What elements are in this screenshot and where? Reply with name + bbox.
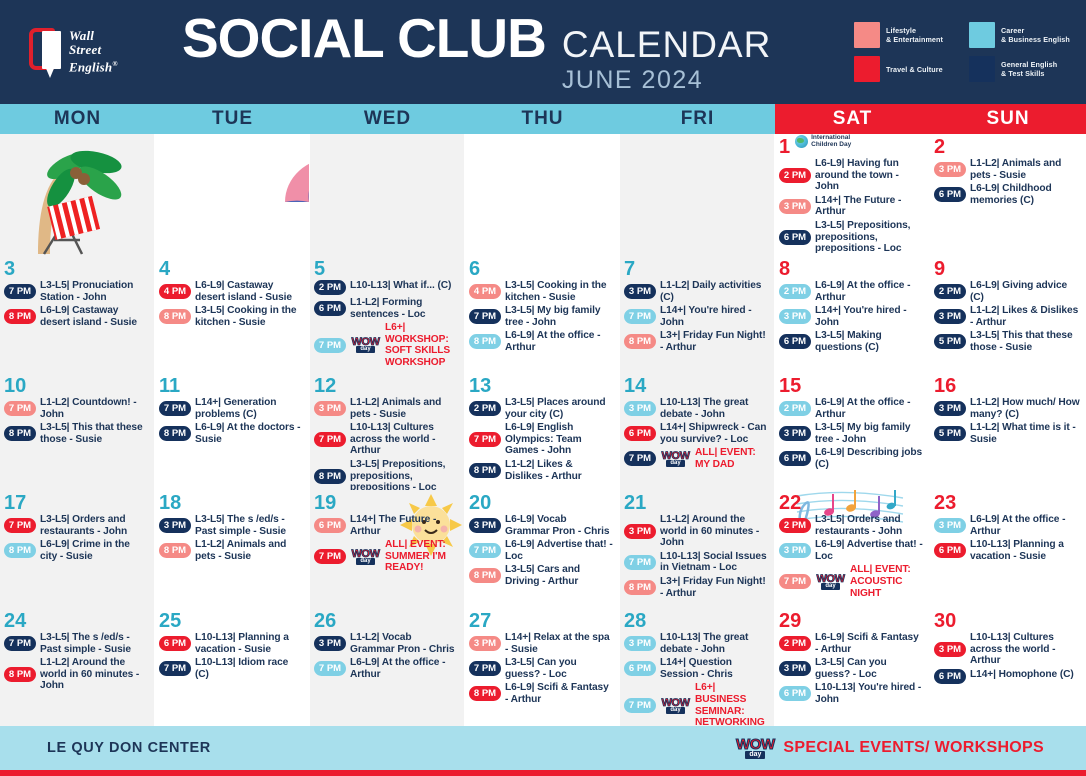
event-time-badge: 8 PM: [159, 543, 191, 558]
day-cell-19[interactable]: 196 PML14+| The Future - Arthur7 PMWOWda…: [310, 490, 465, 608]
dow-header-thu: THU: [465, 104, 620, 134]
event-item[interactable]: 5 PML3-L5| This that these those - Susie: [934, 330, 1080, 353]
event-time-badge: 6 PM: [779, 230, 811, 245]
event-time-badge: 7 PM: [314, 338, 346, 353]
day-cell-20[interactable]: 203 PML6-L9| Vocab Grammar Pron - Chris7…: [465, 490, 620, 608]
day-cell-4[interactable]: 44 PML6-L9| Castaway desert island - Sus…: [155, 256, 310, 373]
event-title: L3-L5| Can you guess? - Loc: [505, 657, 613, 680]
title-social-club: SOCIAL CLUB: [182, 11, 546, 66]
event-item[interactable]: 3 PML14+| The Future - Arthur: [779, 195, 923, 218]
day-of-week-header: MONTUEWEDTHUFRISATSUN: [0, 104, 1086, 134]
event-title: L6-L9| At the office - Arthur: [815, 397, 923, 420]
day-number: 27: [469, 612, 613, 631]
day-events: 3 PML6-L9| Vocab Grammar Pron - Chris7 P…: [469, 514, 613, 588]
calendar-week-row: 177 PML3-L5| Orders and restaurants - Jo…: [0, 490, 1086, 608]
day-events: 2 PML3-L5| Orders and restaurants - John…: [779, 514, 923, 599]
legend-swatch: [969, 56, 995, 82]
day-events: 7 PML1-L2| Countdown! - John8 PML3-L5| T…: [4, 397, 148, 445]
event-title: L10-L13| Cultures across the world - Art…: [350, 422, 458, 457]
day-events: 3 PML6-L9| At the office - Arthur6 PML10…: [934, 514, 1080, 562]
event-item[interactable]: 6 PML14+| Shipwreck - Can you survive? -…: [624, 422, 768, 445]
event-time-badge: 6 PM: [624, 661, 656, 676]
event-time-badge: 4 PM: [469, 284, 501, 299]
event-time-badge: 6 PM: [934, 669, 966, 684]
category-legend: Lifestyle& EntertainmentCareer& Business…: [854, 22, 1074, 82]
day-number: 21: [624, 494, 768, 513]
event-title: L6-L9| Giving advice (C): [970, 280, 1080, 303]
page-title: SOCIAL CLUB CALENDAR JUNE 2024: [178, 11, 854, 93]
event-title: L3+| Friday Fun Night! - Arthur: [660, 576, 768, 599]
day-number: 15: [779, 377, 923, 396]
calendar-grid: Summer1InternationalChildren Day2 PML6-L…: [0, 134, 1086, 726]
event-time-badge: 8 PM: [4, 543, 36, 558]
event-title: ALL| EVENT: SUMMER I'M READY!: [385, 539, 458, 574]
event-item[interactable]: 7 PML10-L13| Idiom race (C): [159, 657, 303, 680]
wow-day-icon: WOWday: [660, 696, 691, 715]
event-title: L3-L5| Cooking in the kitchen - Susie: [195, 305, 303, 328]
event-time-badge: 4 PM: [159, 284, 191, 299]
event-time-badge: 7 PM: [779, 574, 811, 589]
wow-bottom-text: day: [356, 346, 374, 353]
event-item[interactable]: 7 PML14+| Generation problems (C): [159, 397, 303, 420]
dow-header-tue: TUE: [155, 104, 310, 134]
title-month: JUNE 2024: [562, 67, 772, 93]
event-item[interactable]: 3 PML10-L13| Cultures across the world -…: [934, 632, 1080, 667]
event-item[interactable]: 8 PML3-L5| Cooking in the kitchen - Susi…: [159, 305, 303, 328]
event-item[interactable]: 8 PML3-L5| Cars and Driving - Arthur: [469, 564, 613, 587]
event-item[interactable]: 6 PML10-L13| Planning a vacation - Susie: [934, 539, 1080, 562]
event-item[interactable]: 7 PML3-L5| The s /ed/s - Past simple - S…: [4, 632, 148, 655]
event-title: L1-L2| Daily activities (C): [660, 280, 768, 303]
event-item[interactable]: 3 PML1-L2| Likes & Dislikes - Arthur: [934, 305, 1080, 328]
day-number: 11: [159, 377, 303, 396]
day-cell-30[interactable]: 303 PML10-L13| Cultures across the world…: [930, 608, 1086, 726]
day-number: 28: [624, 612, 768, 631]
day-cell-15[interactable]: 152 PML6-L9| At the office - Arthur3 PML…: [775, 373, 930, 490]
event-item[interactable]: 7 PML1-L2| Countdown! - John: [4, 397, 148, 420]
event-time-badge: 8 PM: [469, 463, 501, 478]
event-time-badge: 8 PM: [469, 686, 501, 701]
event-item[interactable]: 3 PML1-L2| How much/ How many? (C): [934, 397, 1080, 420]
wow-day-icon: WOWday: [350, 336, 381, 355]
event-item[interactable]: 7 PML3-L5| Pronuciation Station - John: [4, 280, 148, 303]
event-title: L10-L13| The great debate - John: [660, 397, 768, 420]
event-time-badge: 8 PM: [469, 568, 501, 583]
event-item[interactable]: 7 PML14+| You're hired - John: [624, 305, 768, 328]
event-item[interactable]: 7 PML3-L5| Can you guess? - Loc: [469, 657, 613, 680]
legend-item: General English& Test Skills: [969, 56, 1074, 82]
title-calendar: CALENDAR: [562, 26, 772, 65]
legend-label: Travel & Culture: [886, 65, 943, 74]
wow-bottom-text: day: [666, 707, 684, 714]
event-item[interactable]: 7 PML3-L5| Orders and restaurants - John: [4, 514, 148, 537]
event-title: L14+| You're hired - John: [660, 305, 768, 328]
day-cell-2[interactable]: 23 PML1-L2| Animals and pets - Susie6 PM…: [930, 134, 1086, 256]
event-time-badge: 3 PM: [314, 636, 346, 651]
day-number: 30: [934, 612, 1080, 631]
day-cell-empty: Summer: [310, 134, 465, 256]
event-item[interactable]: 4 PML6-L9| Castaway desert island - Susi…: [159, 280, 303, 303]
center-name: LE QUY DON CENTER: [47, 740, 211, 756]
event-time-badge: 6 PM: [934, 543, 966, 558]
day-cell-27[interactable]: 273 PML14+| Relax at the spa - Susie7 PM…: [465, 608, 620, 726]
legend-swatch: [969, 22, 995, 48]
day-cell-18[interactable]: 183 PML3-L5| The s /ed/s - Past simple -…: [155, 490, 310, 608]
event-item[interactable]: 6 PML10-L13| Planning a vacation - Susie: [159, 632, 303, 655]
legend-item: Career& Business English: [969, 22, 1074, 48]
event-item[interactable]: 8 PML1-L2| Likes & Dislikes - Arthur: [469, 459, 613, 482]
day-cell-14[interactable]: 143 PML10-L13| The great debate - John6 …: [620, 373, 775, 490]
event-item[interactable]: 7 PML3-L5| My big family tree - John: [469, 305, 613, 328]
day-events: 2 PML10-L13| What if... (C)6 PML1-L2| Fo…: [314, 280, 458, 369]
day-events: 2 PML6-L9| At the office - Arthur3 PML3-…: [779, 397, 923, 471]
event-item[interactable]: 8 PML6-L9| Castaway desert island - Susi…: [4, 305, 148, 328]
day-cell-17[interactable]: 177 PML3-L5| Orders and restaurants - Jo…: [0, 490, 155, 608]
event-time-badge: 7 PM: [624, 309, 656, 324]
event-item[interactable]: 7 PML6-L9| At the office - Arthur: [314, 657, 458, 680]
event-time-badge: 3 PM: [934, 162, 966, 177]
event-title: L1-L2| Animals and pets - Susie: [970, 158, 1080, 181]
day-number: 4: [159, 260, 303, 279]
event-time-badge: 6 PM: [624, 426, 656, 441]
day-events: 4 PML6-L9| Castaway desert island - Susi…: [159, 280, 303, 328]
legend-label: Lifestyle& Entertainment: [886, 26, 943, 44]
day-cell-empty: [155, 134, 310, 256]
event-time-badge: 3 PM: [159, 518, 191, 533]
event-title: L6-L9| At the office - Arthur: [505, 330, 613, 353]
event-title: L10-L13| Planning a vacation - Susie: [195, 632, 303, 655]
event-item[interactable]: 2 PML10-L13| What if... (C): [314, 280, 458, 295]
wow-day-icon: WOWday: [350, 547, 381, 566]
event-item[interactable]: 6 PML10-L13| You're hired - John: [779, 682, 923, 705]
event-title: L14+| Homophone (C): [970, 669, 1074, 681]
event-time-badge: 7 PM: [314, 432, 346, 447]
day-cell-16[interactable]: 163 PML1-L2| How much/ How many? (C)5 PM…: [930, 373, 1086, 490]
day-events: 2 PML6-L9| Scifi & Fantasy - Arthur3 PML…: [779, 632, 923, 706]
event-title: L3-L5| This that these those - Susie: [40, 422, 148, 445]
event-title: L6-L9| Vocab Grammar Pron - Chris: [505, 514, 613, 537]
event-title: L3-L5| Cars and Driving - Arthur: [505, 564, 613, 587]
brand-line-3: English: [69, 60, 112, 75]
day-events: 3 PML1-L2| How much/ How many? (C)5 PML1…: [934, 397, 1080, 445]
day-events: 3 PML1-L2| Animals and pets - Susie6 PML…: [934, 158, 1080, 206]
event-item[interactable]: 7 PMWOWdayALL| EVENT: SUMMER I'M READY!: [314, 539, 458, 574]
event-title: L3-L5| Orders and restaurants - John: [815, 514, 923, 537]
event-item[interactable]: 3 PML1-L2| Animals and pets - Susie: [314, 397, 458, 420]
wow-top-text: WOW: [736, 738, 775, 752]
event-item[interactable]: 8 PML6-L9| At the doctors - Susie: [159, 422, 303, 445]
event-time-badge: 2 PM: [779, 168, 811, 183]
event-time-badge: 7 PM: [314, 661, 346, 676]
event-time-badge: 2 PM: [314, 280, 346, 295]
event-time-badge: 2 PM: [779, 518, 811, 533]
day-number: 12: [314, 377, 458, 396]
day-events: 2 PML6-L9| Having fun around the town - …: [779, 158, 923, 255]
event-item[interactable]: 6 PML6-L9| Describing jobs (C): [779, 447, 923, 470]
event-title: L3-L5| The s /ed/s - Past simple - Susie: [40, 632, 148, 655]
event-item[interactable]: 2 PML6-L9| Scifi & Fantasy - Arthur: [779, 632, 923, 655]
event-time-badge: 8 PM: [159, 309, 191, 324]
event-title: L6-L9| At the office - Arthur: [970, 514, 1080, 537]
event-item[interactable]: 8 PML3-L5| This that these those - Susie: [4, 422, 148, 445]
event-item[interactable]: 3 PML14+| You're hired - John: [779, 305, 923, 328]
event-title: L6-L9| At the office - Arthur: [815, 280, 923, 303]
event-title: L6-L9| Childhood memories (C): [970, 183, 1080, 206]
event-time-badge: 7 PM: [469, 432, 501, 447]
calendar-week-row: 37 PML3-L5| Pronuciation Station - John8…: [0, 256, 1086, 373]
event-item[interactable]: 2 PML6-L9| Giving advice (C): [934, 280, 1080, 303]
event-title: L3-L5| Can you guess? - Loc: [815, 657, 923, 680]
event-time-badge: 7 PM: [159, 661, 191, 676]
event-title: L10-L13| Idiom race (C): [195, 657, 303, 680]
day-cell-8[interactable]: 82 PML6-L9| At the office - Arthur3 PML1…: [775, 256, 930, 373]
event-item[interactable]: 2 PML6-L9| At the office - Arthur: [779, 397, 923, 420]
event-time-badge: 7 PM: [4, 518, 36, 533]
event-item[interactable]: 3 PML6-L9| At the office - Arthur: [934, 514, 1080, 537]
event-time-badge: 7 PM: [624, 698, 656, 713]
event-item[interactable]: 7 PMWOWdayALL| EVENT: ACOUSTIC NIGHT: [779, 564, 923, 599]
event-item[interactable]: 8 PML6-L9| At the office - Arthur: [469, 330, 613, 353]
event-item[interactable]: 3 PML1-L2| Around the world in 60 minute…: [624, 514, 768, 549]
wow-bottom-text: day: [745, 751, 765, 759]
special-day-tag: InternationalChildren Day: [795, 135, 851, 148]
day-number: 5: [314, 260, 458, 279]
event-title: L6-L9| Crime in the city - Susie: [40, 539, 148, 562]
event-item[interactable]: 8 PML1-L2| Animals and pets - Susie: [159, 539, 303, 562]
day-cell-23[interactable]: 233 PML6-L9| At the office - Arthur6 PML…: [930, 490, 1086, 608]
event-item[interactable]: 3 PML6-L9| Advertise that! - Loc: [779, 539, 923, 562]
day-events: 2 PML3-L5| Places around your city (C)7 …: [469, 397, 613, 482]
special-day-label: InternationalChildren Day: [811, 135, 851, 148]
event-title: L14+| Relax at the spa - Susie: [505, 632, 613, 655]
day-cell-10[interactable]: 107 PML1-L2| Countdown! - John8 PML3-L5|…: [0, 373, 155, 490]
event-item[interactable]: 6 PML14+| The Future - Arthur: [314, 514, 458, 537]
calendar-week-row: Summer1InternationalChildren Day2 PML6-L…: [0, 134, 1086, 256]
day-cell-28[interactable]: 283 PML10-L13| The great debate - John6 …: [620, 608, 775, 726]
day-number: 25: [159, 612, 303, 631]
wow-day-icon: WOWday: [660, 449, 691, 468]
event-title: L6-L9| Advertise that! - Loc: [505, 539, 613, 562]
day-number: 23: [934, 494, 1080, 513]
event-item[interactable]: 6 PML3-L5| Making questions (C): [779, 330, 923, 353]
calendar-week-row: 107 PML1-L2| Countdown! - John8 PML3-L5|…: [0, 373, 1086, 490]
legend-label: General English& Test Skills: [1001, 60, 1057, 78]
event-item[interactable]: 3 PML1-L2| Daily activities (C): [624, 280, 768, 303]
event-item[interactable]: 2 PML6-L9| At the office - Arthur: [779, 280, 923, 303]
event-time-badge: 3 PM: [624, 636, 656, 651]
event-title: L6-L9| Describing jobs (C): [815, 447, 923, 470]
event-item[interactable]: 7 PML6-L9| Advertise that! - Loc: [469, 539, 613, 562]
event-title: L6-L9| Castaway desert island - Susie: [195, 280, 303, 303]
event-item[interactable]: 7 PML10-L13| Cultures across the world -…: [314, 422, 458, 457]
day-cell-6[interactable]: 64 PML3-L5| Cooking in the kitchen - Sus…: [465, 256, 620, 373]
day-events: 2 PML6-L9| At the office - Arthur3 PML14…: [779, 280, 923, 354]
day-cell-25[interactable]: 256 PML10-L13| Planning a vacation - Sus…: [155, 608, 310, 726]
day-events: 6 PML10-L13| Planning a vacation - Susie…: [159, 632, 303, 680]
dow-header-mon: MON: [0, 104, 155, 134]
event-time-badge: 8 PM: [4, 426, 36, 441]
event-item[interactable]: 7 PML10-L13| Social Issues in Vietnam - …: [624, 551, 768, 574]
event-item[interactable]: 2 PML3-L5| Orders and restaurants - John: [779, 514, 923, 537]
event-title: L1-L2| Around the world in 60 minutes - …: [660, 514, 768, 549]
event-title: L1-L2| Vocab Grammar Pron - Chris: [350, 632, 458, 655]
event-item[interactable]: 8 PML6-L9| Crime in the city - Susie: [4, 539, 148, 562]
day-events: 3 PML10-L13| Cultures across the world -…: [934, 632, 1080, 684]
event-time-badge: 7 PM: [469, 309, 501, 324]
event-time-badge: 7 PM: [314, 549, 346, 564]
legend-swatch: [854, 22, 880, 48]
day-cell-5[interactable]: 52 PML10-L13| What if... (C)6 PML1-L2| F…: [310, 256, 465, 373]
event-title: L1-L2| How much/ How many? (C): [970, 397, 1080, 420]
day-events: 3 PML10-L13| The great debate - John6 PM…: [624, 397, 768, 471]
day-cell-24[interactable]: 247 PML3-L5| The s /ed/s - Past simple -…: [0, 608, 155, 726]
event-item[interactable]: 3 PML1-L2| Vocab Grammar Pron - Chris: [314, 632, 458, 655]
event-time-badge: 7 PM: [624, 555, 656, 570]
event-time-badge: 5 PM: [934, 334, 966, 349]
day-cell-9[interactable]: 92 PML6-L9| Giving advice (C)3 PML1-L2| …: [930, 256, 1086, 373]
day-cell-22[interactable]: 222 PML3-L5| Orders and restaurants - Jo…: [775, 490, 930, 608]
day-cell-29[interactable]: 292 PML6-L9| Scifi & Fantasy - Arthur3 P…: [775, 608, 930, 726]
event-item[interactable]: 3 PML6-L9| Vocab Grammar Pron - Chris: [469, 514, 613, 537]
event-item[interactable]: 8 PML3-L5| Prepositions, prepositions, p…: [314, 459, 458, 490]
event-item[interactable]: 7 PMWOWdayL6+| WORKSHOP: SOFT SKILLS WOR…: [314, 322, 458, 368]
day-cell-11[interactable]: 117 PML14+| Generation problems (C)8 PML…: [155, 373, 310, 490]
event-title: L6-L9| Having fun around the town - John: [815, 158, 923, 193]
event-title: L3-L5| This that these those - Susie: [970, 330, 1080, 353]
event-time-badge: 8 PM: [159, 426, 191, 441]
day-cell-7[interactable]: 73 PML1-L2| Daily activities (C)7 PML14+…: [620, 256, 775, 373]
event-title: L10-L13| What if... (C): [350, 280, 451, 292]
day-events: 6 PML14+| The Future - Arthur7 PMWOWdayA…: [314, 514, 458, 574]
day-number: 14: [624, 377, 768, 396]
event-time-badge: 8 PM: [314, 469, 346, 484]
event-time-badge: 7 PM: [159, 401, 191, 416]
special-events-label: SPECIAL EVENTS/ WORKSHOPS: [783, 739, 1044, 757]
special-events-key: WOW day SPECIAL EVENTS/ WORKSHOPS: [735, 735, 1044, 761]
dow-header-fri: FRI: [620, 104, 775, 134]
event-time-badge: 6 PM: [779, 451, 811, 466]
event-title: L3-L5| The s /ed/s - Past simple - Susie: [195, 514, 303, 537]
day-number: 22: [779, 494, 923, 513]
globe-icon: [795, 135, 808, 148]
event-title: L6-L9| English Olympics: Team Games - Jo…: [505, 422, 613, 457]
event-title: L3-L5| Pronuciation Station - John: [40, 280, 148, 303]
page-header: Wall Street English® SOCIAL CLUB CALENDA…: [0, 0, 1086, 104]
event-time-badge: 2 PM: [469, 401, 501, 416]
event-title: L1-L2| Around the world in 60 minutes - …: [40, 657, 148, 692]
event-item[interactable]: 6 PML3-L5| Prepositions, prepositions, p…: [779, 220, 923, 255]
day-number: 26: [314, 612, 458, 631]
day-events: 3 PML1-L2| Daily activities (C)7 PML14+|…: [624, 280, 768, 354]
event-time-badge: 2 PM: [779, 284, 811, 299]
day-number: 10: [4, 377, 148, 396]
event-time-badge: 3 PM: [779, 661, 811, 676]
calendar-week-row: 247 PML3-L5| The s /ed/s - Past simple -…: [0, 608, 1086, 726]
event-item[interactable]: 7 PMWOWdayALL| EVENT: MY DAD: [624, 447, 768, 470]
day-events: 3 PML1-L2| Vocab Grammar Pron - Chris7 P…: [314, 632, 458, 680]
day-cell-21[interactable]: 213 PML1-L2| Around the world in 60 minu…: [620, 490, 775, 608]
event-title: L14+| The Future - Arthur: [350, 514, 458, 537]
day-number: 19: [314, 494, 458, 513]
event-time-badge: 3 PM: [624, 284, 656, 299]
event-item[interactable]: 3 PML3-L5| The s /ed/s - Past simple - S…: [159, 514, 303, 537]
event-item[interactable]: 3 PML10-L13| The great debate - John: [624, 632, 768, 655]
event-item[interactable]: 4 PML3-L5| Cooking in the kitchen - Susi…: [469, 280, 613, 303]
day-events: 7 PML3-L5| Pronuciation Station - John8 …: [4, 280, 148, 328]
event-item[interactable]: 8 PML1-L2| Around the world in 60 minute…: [4, 657, 148, 692]
event-title: L14+| The Future - Arthur: [815, 195, 923, 218]
event-time-badge: 8 PM: [624, 334, 656, 349]
event-time-badge: 2 PM: [779, 401, 811, 416]
day-cell-3[interactable]: 37 PML3-L5| Pronuciation Station - John8…: [0, 256, 155, 373]
day-cell-empty: [620, 134, 775, 256]
day-events: 3 PML3-L5| The s /ed/s - Past simple - S…: [159, 514, 303, 562]
day-number: 18: [159, 494, 303, 513]
day-cell-empty: [465, 134, 620, 256]
event-time-badge: 3 PM: [934, 642, 966, 657]
event-title: L14+| Generation problems (C): [195, 397, 303, 420]
event-title: L3-L5| My big family tree - John: [505, 305, 613, 328]
event-item[interactable]: 5 PML1-L2| What time is it - Susie: [934, 422, 1080, 445]
day-number: 29: [779, 612, 923, 631]
event-item[interactable]: 2 PML6-L9| Having fun around the town - …: [779, 158, 923, 193]
day-events: 3 PML1-L2| Around the world in 60 minute…: [624, 514, 768, 599]
event-time-badge: 3 PM: [779, 309, 811, 324]
event-time-badge: 3 PM: [779, 426, 811, 441]
event-item[interactable]: 6 PML14+| Question Session - Chris: [624, 657, 768, 680]
wow-bottom-text: day: [356, 558, 374, 565]
event-title: L6-L9| Scifi & Fantasy - Arthur: [505, 682, 613, 705]
event-time-badge: 7 PM: [469, 543, 501, 558]
day-cell-12[interactable]: 123 PML1-L2| Animals and pets - Susie7 P…: [310, 373, 465, 490]
day-cell-1[interactable]: 1InternationalChildren Day2 PML6-L9| Hav…: [775, 134, 930, 256]
event-title: L1-L2| Forming sentences - Loc: [350, 297, 458, 320]
wow-day-icon: WOW day: [735, 735, 775, 761]
day-events: 3 PML14+| Relax at the spa - Susie7 PML3…: [469, 632, 613, 706]
event-item[interactable]: 2 PML3-L5| Places around your city (C): [469, 397, 613, 420]
event-item[interactable]: 3 PML3-L5| Can you guess? - Loc: [779, 657, 923, 680]
event-time-badge: 8 PM: [624, 580, 656, 595]
day-cell-26[interactable]: 263 PML1-L2| Vocab Grammar Pron - Chris7…: [310, 608, 465, 726]
event-title: L6-L9| Scifi & Fantasy - Arthur: [815, 632, 923, 655]
event-item[interactable]: 7 PMWOWdayL6+| BUSINESS SEMINAR: NETWORK…: [624, 682, 768, 726]
event-item[interactable]: 6 PML1-L2| Forming sentences - Loc: [314, 297, 458, 320]
event-title: L10-L13| Cultures across the world - Art…: [970, 632, 1080, 667]
event-item[interactable]: 8 PML3+| Friday Fun Night! - Arthur: [624, 330, 768, 353]
event-title: L6+| BUSINESS SEMINAR: NETWORKING: [695, 682, 768, 726]
brand-line-1: Wall: [69, 28, 94, 43]
event-title: L3-L5| Making questions (C): [815, 330, 923, 353]
event-item[interactable]: 3 PML1-L2| Animals and pets - Susie: [934, 158, 1080, 181]
brand-line-2: Street: [69, 42, 101, 57]
day-events: 2 PML6-L9| Giving advice (C)3 PML1-L2| L…: [934, 280, 1080, 354]
event-title: L14+| You're hired - John: [815, 305, 923, 328]
day-cell-13[interactable]: 132 PML3-L5| Places around your city (C)…: [465, 373, 620, 490]
event-item[interactable]: 3 PML3-L5| My big family tree - John: [779, 422, 923, 445]
event-item[interactable]: 6 PML14+| Homophone (C): [934, 669, 1080, 684]
event-time-badge: 3 PM: [779, 199, 811, 214]
event-item[interactable]: 6 PML6-L9| Childhood memories (C): [934, 183, 1080, 206]
event-item[interactable]: 8 PML3+| Friday Fun Night! - Arthur: [624, 576, 768, 599]
event-item[interactable]: 7 PML6-L9| English Olympics: Team Games …: [469, 422, 613, 457]
event-item[interactable]: 3 PML14+| Relax at the spa - Susie: [469, 632, 613, 655]
event-item[interactable]: 3 PML10-L13| The great debate - John: [624, 397, 768, 420]
event-time-badge: 3 PM: [469, 636, 501, 651]
day-number: 6: [469, 260, 613, 279]
day-number: 2: [934, 138, 1080, 157]
day-events: 3 PML1-L2| Animals and pets - Susie7 PML…: [314, 397, 458, 490]
event-item[interactable]: 8 PML6-L9| Scifi & Fantasy - Arthur: [469, 682, 613, 705]
